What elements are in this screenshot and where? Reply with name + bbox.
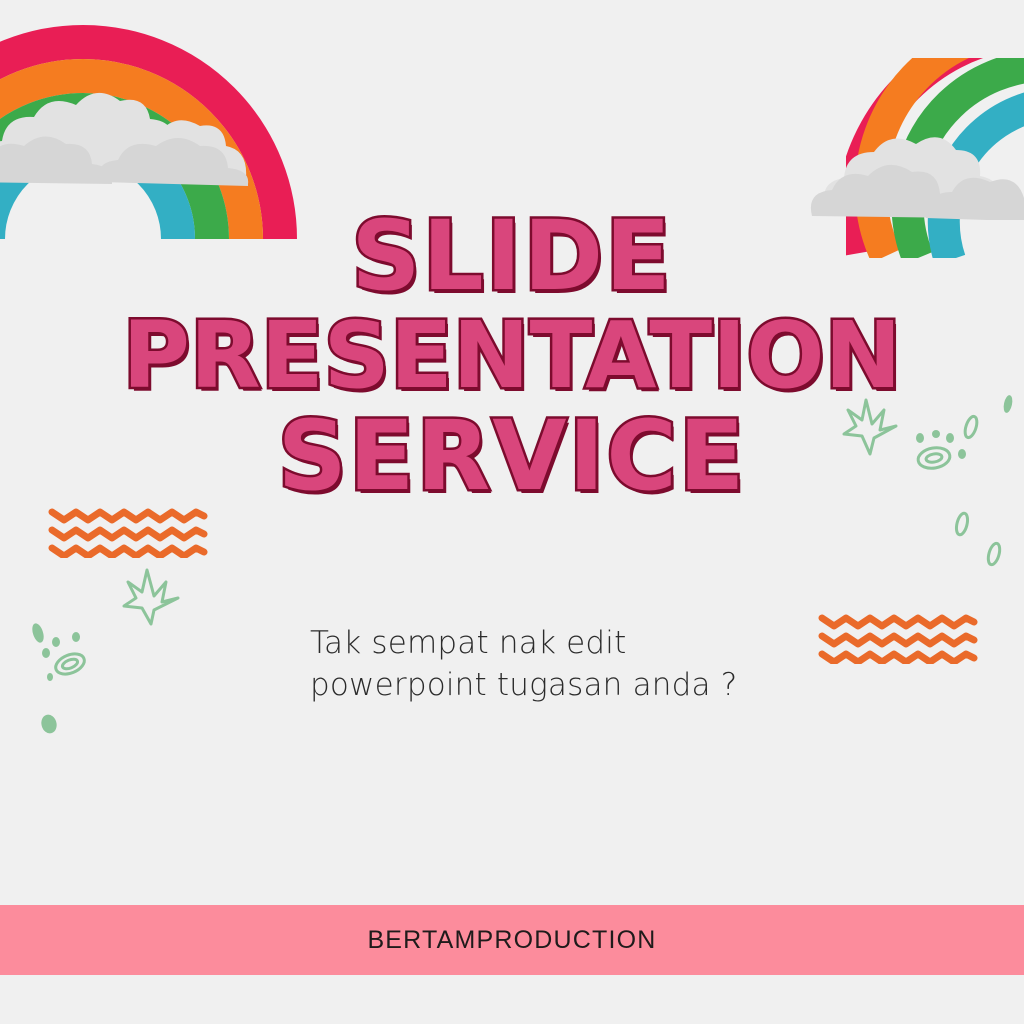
wavy-lines-icon — [818, 608, 978, 664]
wavy-lines-icon — [48, 502, 208, 558]
title-line-service: SERVICE — [0, 406, 1024, 506]
subtitle-line-2: powerpoint tugasan anda ? — [310, 664, 830, 706]
presentation-slide: SLIDE PRESENTATION SERVICE — [0, 0, 1024, 1024]
subtitle-line-1: Tak sempat nak edit — [310, 622, 830, 664]
star-doodle-icon — [14, 552, 214, 752]
cloud-icon — [0, 78, 310, 188]
subtitle: Tak sempat nak edit powerpoint tugasan a… — [310, 622, 830, 706]
brand-name: BERTAMPRODUCTION — [367, 926, 656, 955]
footer-band: BERTAMPRODUCTION — [0, 905, 1024, 975]
title-line-slide: SLIDE — [0, 206, 1024, 306]
title-line-presentation: PRESENTATION — [0, 306, 1024, 406]
page-title: SLIDE PRESENTATION SERVICE — [0, 206, 1024, 506]
